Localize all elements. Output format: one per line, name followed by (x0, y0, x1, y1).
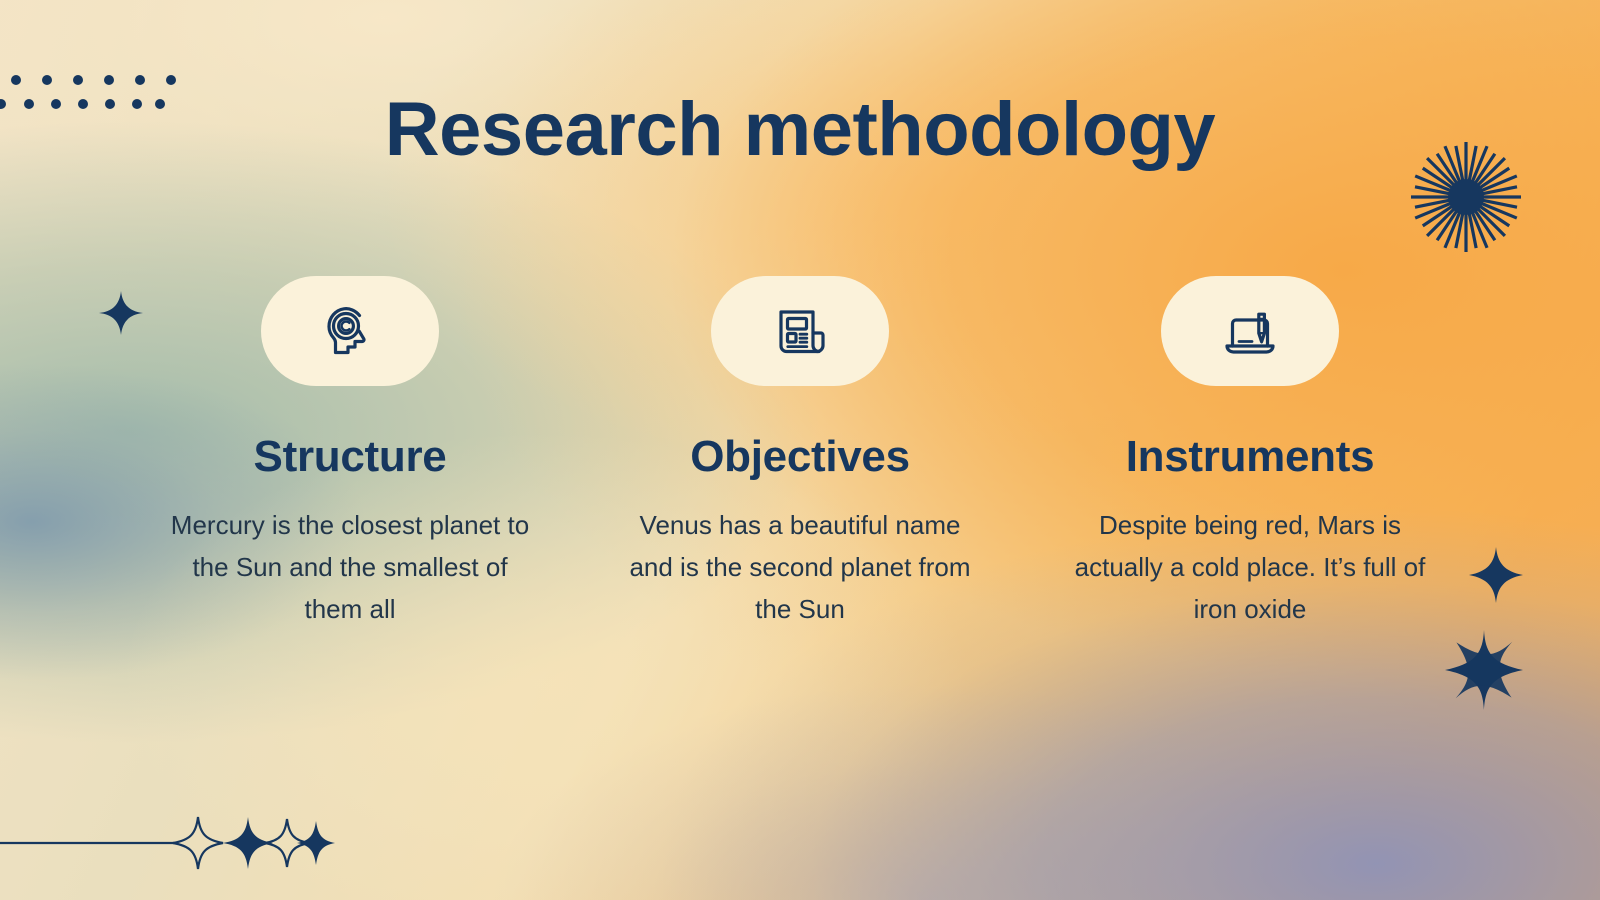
laptop-stylus-icon (1219, 300, 1281, 362)
diamond-rule-icon (0, 812, 336, 872)
feature-column-objectives: Objectives Venus has a beautiful name an… (600, 276, 1000, 631)
eight-point-star-icon (1443, 628, 1525, 712)
column-body: Venus has a beautiful name and is the se… (615, 504, 985, 630)
icon-pill-objectives (711, 276, 889, 386)
column-title: Structure (254, 434, 447, 480)
newspaper-icon (769, 300, 831, 362)
column-title: Instruments (1126, 434, 1375, 480)
four-point-sparkle-icon (98, 290, 144, 336)
head-copyright-icon (319, 300, 381, 362)
column-body: Despite being red, Mars is actually a co… (1060, 504, 1440, 630)
column-body: Mercury is the closest planet to the Sun… (170, 504, 530, 630)
icon-pill-instruments (1161, 276, 1339, 386)
four-point-sparkle-icon (1468, 546, 1524, 604)
slide: Research methodology Structure Mercury i… (0, 0, 1600, 900)
feature-column-instruments: Instruments Despite being red, Mars is a… (1050, 276, 1450, 631)
feature-columns: Structure Mercury is the closest planet … (150, 276, 1450, 631)
column-title: Objectives (690, 434, 910, 480)
page-title: Research methodology (0, 92, 1600, 168)
feature-column-structure: Structure Mercury is the closest planet … (150, 276, 550, 631)
icon-pill-structure (261, 276, 439, 386)
